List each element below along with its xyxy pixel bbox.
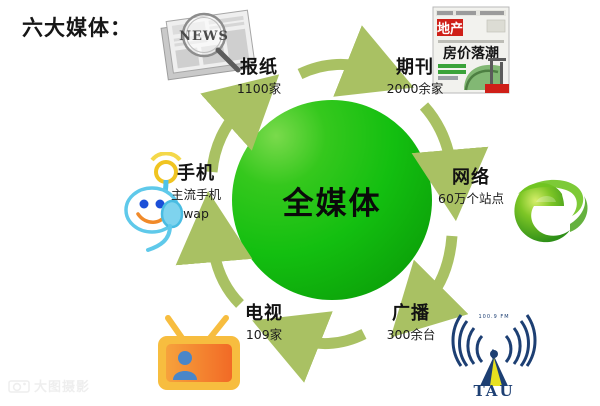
camera-icon [8, 378, 30, 394]
node-network-sub: 60万个站点 [434, 191, 508, 207]
arrow-tv-to-mobile [212, 238, 240, 304]
node-newspaper-name: 报纸 [214, 58, 304, 78]
arrow-mobile-to-newspaper [212, 106, 244, 172]
newspaper-icon-text: NEWS [179, 29, 229, 44]
arrow-radio-to-tv [296, 334, 364, 344]
arrow-magazine-to-network [424, 106, 452, 174]
node-mobile-name: 手机 [156, 164, 236, 184]
diagram-canvas: 六大媒体： 全媒体 [0, 0, 600, 406]
node-newspaper[interactable]: 报纸 1100家 [214, 58, 304, 97]
node-magazine-sub: 2000余家 [366, 81, 464, 97]
radio-tower-icon: TAU 100.9 FM [446, 306, 542, 398]
svg-text:100.9 FM: 100.9 FM [478, 314, 509, 320]
node-mobile-sub: 主流手机 [156, 187, 236, 203]
arrow-newspaper-to-magazine [300, 64, 370, 74]
arrow-network-to-radio [424, 236, 452, 304]
internet-explorer-icon [500, 166, 592, 258]
node-tv-sub: 109家 [222, 327, 306, 343]
node-network-name: 网络 [432, 168, 510, 188]
node-network[interactable]: 网络 60万个站点 [432, 168, 510, 207]
node-magazine-name: 期刊 [366, 58, 464, 78]
node-mobile[interactable]: 手机 主流手机 wap [156, 164, 236, 222]
radio-icon-text: TAU [473, 382, 514, 398]
watermark-label: 大图摄影 [34, 376, 90, 395]
node-tv-name: 电视 [222, 304, 306, 324]
node-mobile-sub2: wap [156, 206, 236, 222]
node-magazine[interactable]: 期刊 2000余家 [366, 58, 464, 97]
node-radio[interactable]: 广播 300余台 [366, 304, 456, 343]
magazine-icon-masthead: 地产 [437, 21, 463, 37]
watermark: 大图摄影 [8, 376, 90, 395]
node-radio-name: 广播 [366, 304, 456, 324]
node-newspaper-sub: 1100家 [214, 81, 304, 97]
node-radio-sub: 300余台 [366, 327, 456, 343]
node-tv[interactable]: 电视 109家 [222, 304, 306, 343]
